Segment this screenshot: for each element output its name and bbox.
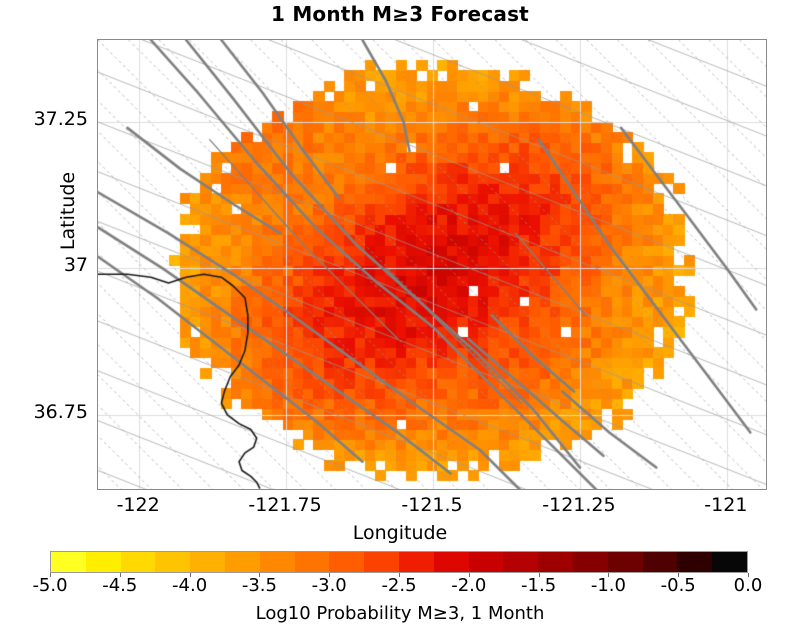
y-axis-label: Latitude <box>57 131 79 291</box>
colorbar-tickmark-1 <box>120 573 121 577</box>
xtick-label-1: -121.75 <box>225 494 345 516</box>
colorbar-segment-10 <box>399 552 434 572</box>
colorbar-segment-3 <box>155 552 190 572</box>
colorbar-segment-4 <box>190 552 225 572</box>
colorbar-segment-5 <box>225 552 260 572</box>
xtick-label-3: -121.25 <box>519 494 639 516</box>
page-title: 1 Month M≥3 Forecast <box>0 2 800 26</box>
colorbar-tickmark-5 <box>399 573 400 577</box>
colorbar-tickmark-6 <box>469 573 470 577</box>
colorbar-tickmark-2 <box>190 573 191 577</box>
map-plot-area[interactable] <box>97 39 767 490</box>
colorbar-tickmark-7 <box>539 573 540 577</box>
colorbar-label: Log10 Probability M≥3, 1 Month <box>0 603 800 624</box>
colorbar-segment-16 <box>608 552 643 572</box>
colorbar-segment-8 <box>329 552 364 572</box>
ytick-label-2: 36.75 <box>34 401 88 423</box>
colorbar-segment-17 <box>643 552 678 572</box>
colorbar-tickmark-3 <box>259 573 260 577</box>
forecast-figure: 1 Month M≥3 Forecast 37.25 37 36.75 -122… <box>0 0 800 638</box>
xtick-label-2: -121.5 <box>372 494 492 516</box>
colorbar-segment-2 <box>121 552 156 572</box>
colorbar-tickmark-8 <box>608 573 609 577</box>
colorbar-segment-1 <box>86 552 121 572</box>
colorbar-tickmark-4 <box>329 573 330 577</box>
colorbar-segment-0 <box>51 552 86 572</box>
colorbar-segment-18 <box>677 552 712 572</box>
map-features-overlay-canvas <box>98 40 767 490</box>
colorbar-segment-14 <box>538 552 573 572</box>
ytick-label-0: 37.25 <box>34 108 88 130</box>
colorbar-tickmark-10 <box>748 573 749 577</box>
xtick-label-0: -122 <box>78 494 198 516</box>
colorbar-segment-9 <box>364 552 399 572</box>
colorbar-tickmark-9 <box>678 573 679 577</box>
colorbar-segment-12 <box>469 552 504 572</box>
colorbar-segment-6 <box>260 552 295 572</box>
colorbar[interactable] <box>50 551 748 573</box>
x-axis-label: Longitude <box>0 522 800 544</box>
colorbar-segment-13 <box>503 552 538 572</box>
colorbar-tickmark-0 <box>50 573 51 577</box>
colorbar-segment-11 <box>434 552 469 572</box>
colorbar-segment-19 <box>712 552 747 572</box>
colorbar-segment-15 <box>573 552 608 572</box>
colorbar-tick-10: 0.0 <box>703 575 793 596</box>
colorbar-segment-7 <box>295 552 330 572</box>
xtick-label-4: -121 <box>666 494 786 516</box>
